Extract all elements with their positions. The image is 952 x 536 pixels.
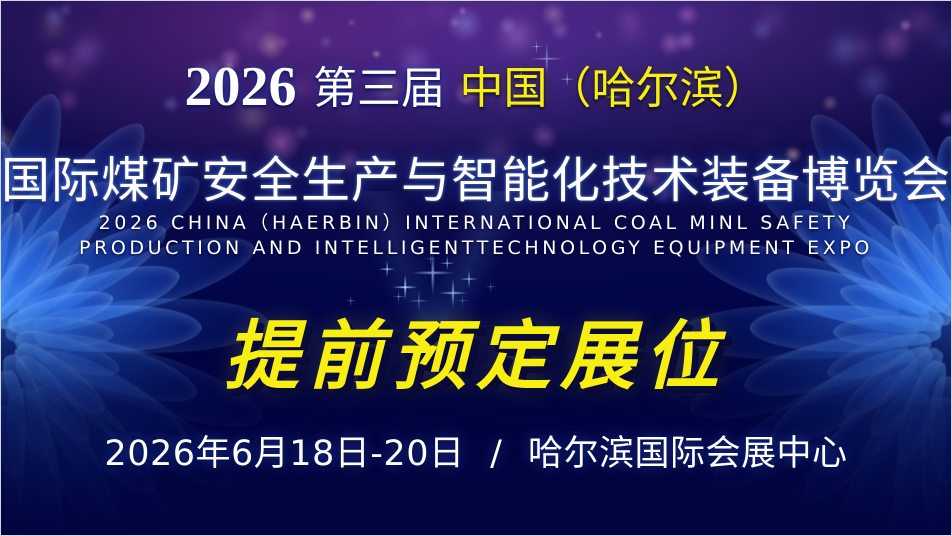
title-line: 2026 第三届 中国（哈尔滨）: [1, 59, 951, 115]
date-venue-line: 2026年6月18日-20日 / 哈尔滨国际会展中心: [1, 425, 951, 476]
title-year: 2026: [185, 56, 297, 118]
title-edition: 第三届: [313, 63, 445, 114]
slogan-text: 提前预定展位: [1, 295, 951, 404]
main-heading: 国际煤矿安全生产与智能化技术装备博览会: [1, 141, 951, 212]
date-venue-separator: /: [476, 434, 516, 474]
title-location: 中国（哈尔滨）: [459, 63, 767, 114]
event-date: 2026年6月18日-20日: [104, 434, 464, 474]
poster-content: 2026 第三届 中国（哈尔滨） 国际煤矿安全生产与智能化技术装备博览会 202…: [1, 1, 951, 535]
expo-poster: 2026 第三届 中国（哈尔滨） 国际煤矿安全生产与智能化技术装备博览会 202…: [0, 0, 952, 536]
english-subtitle-line-1: 2026 CHINA（HAERBIN）INTERNATIONAL COAL MI…: [1, 208, 951, 235]
event-venue: 哈尔滨国际会展中心: [528, 434, 848, 474]
english-subtitle-line-2: PRODUCTION AND INTELLIGENTTECHNOLOGY EQU…: [1, 237, 951, 259]
